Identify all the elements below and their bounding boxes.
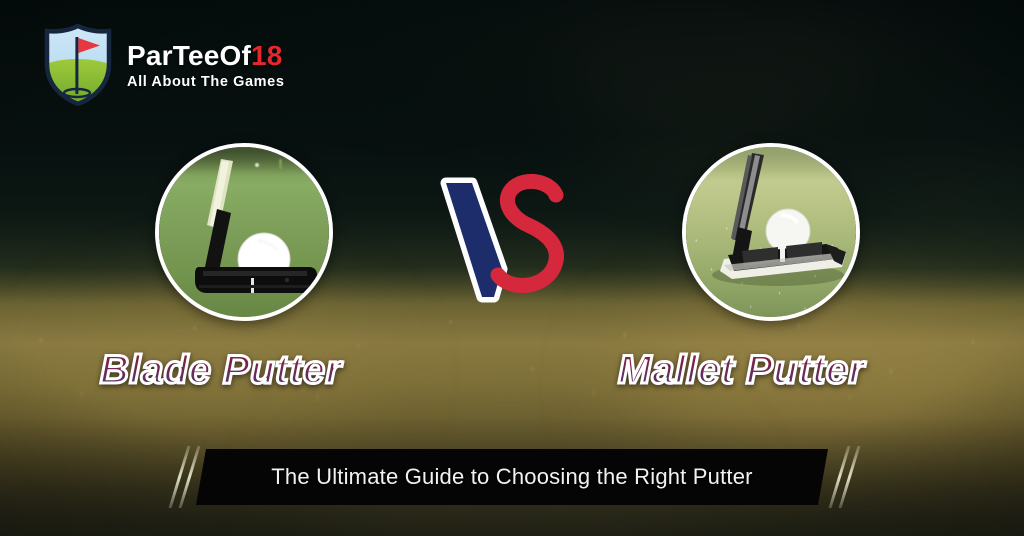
mallet-putter-label: Mallet Putter [618,348,865,393]
hero-banner: ParTeeOf18 All About The Games [0,0,1024,536]
brand-tagline: All About The Games [127,74,285,90]
site-logo[interactable]: ParTeeOf18 All About The Games [42,24,285,106]
brand-number: 18 [251,40,283,71]
subtitle-text: The Ultimate Guide to Choosing the Right… [271,464,752,490]
brand-name: ParTeeOf [127,40,251,71]
mallet-putter-image[interactable] [682,143,860,321]
mallet-putter-scene [686,147,856,317]
blade-putter-scene [159,147,329,317]
blade-putter-image[interactable] [155,143,333,321]
blade-putter-club-icon [159,147,333,321]
blade-putter-label: Blade Putter [100,348,342,393]
mallet-putter-club-icon [686,147,860,321]
brand-text-block: ParTeeOf18 All About The Games [127,40,285,91]
versus-icon: VS [438,165,586,305]
brand-title: ParTeeOf18 [127,42,285,71]
golf-shield-flag-icon [42,24,114,106]
subtitle-banner: The Ultimate Guide to Choosing the Right… [196,449,828,505]
